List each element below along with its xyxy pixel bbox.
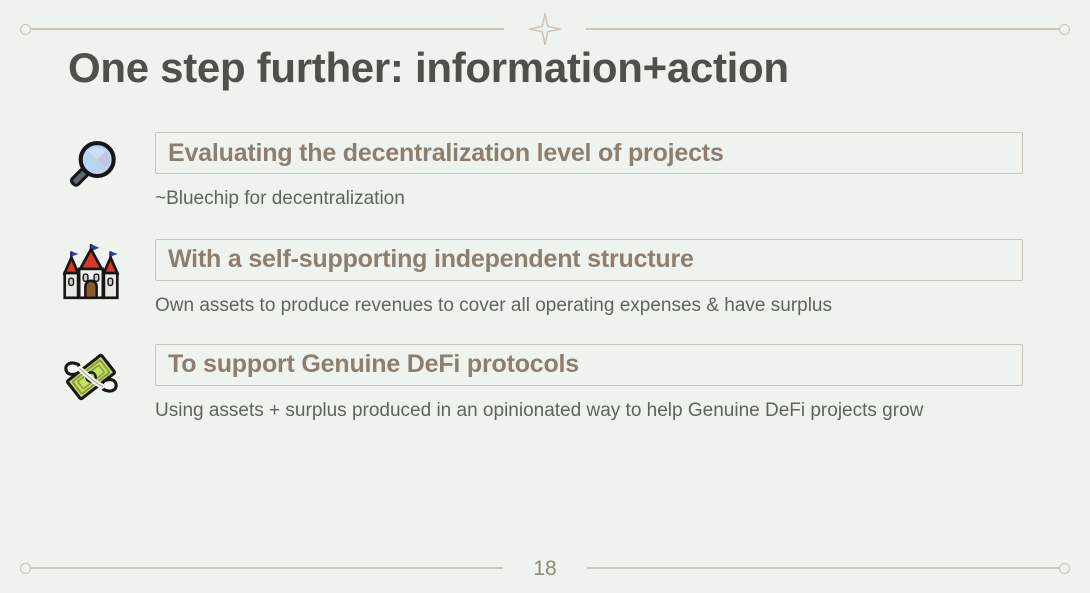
page-number: 18 xyxy=(533,558,556,579)
footer-line-left xyxy=(31,567,503,569)
block-body-text: Using assets + surplus produced in an op… xyxy=(155,398,995,425)
content-blocks: Evaluating the decentralization level of… xyxy=(0,132,1090,449)
headline-box: Evaluating the decentralization level of… xyxy=(155,132,1023,174)
footer-left-ring-icon xyxy=(20,563,31,574)
content-block: Evaluating the decentralization level of… xyxy=(0,132,1090,213)
divider-line-right xyxy=(586,28,1059,30)
headline-text: With a self-supporting independent struc… xyxy=(168,245,694,274)
divider-right-ring-icon xyxy=(1059,24,1070,35)
page-title: One step further: information+action xyxy=(68,44,789,92)
block-body-text: ~Bluechip for decentralization xyxy=(155,186,995,213)
content-block: To support Genuine DeFi protocols Using … xyxy=(0,344,1090,425)
headline-text: To support Genuine DeFi protocols xyxy=(168,350,579,379)
headline-text: Evaluating the decentralization level of… xyxy=(168,139,724,168)
footer-line-right xyxy=(587,567,1059,569)
footer-divider: 18 xyxy=(0,555,1090,581)
divider-line-left xyxy=(31,28,504,30)
sparkle-star-icon xyxy=(528,12,562,46)
divider-left-ring-icon xyxy=(20,24,31,35)
headline-box: With a self-supporting independent struc… xyxy=(155,239,1023,281)
top-divider xyxy=(0,12,1090,46)
magnifying-glass-icon xyxy=(58,132,124,198)
footer-right-ring-icon xyxy=(1059,563,1070,574)
content-block: With a self-supporting independent struc… xyxy=(0,239,1090,320)
headline-box: To support Genuine DeFi protocols xyxy=(155,344,1023,386)
slide: One step further: information+action Eva… xyxy=(0,0,1090,593)
money-with-wings-icon xyxy=(58,344,124,410)
castle-icon xyxy=(58,239,124,305)
block-body-text: Own assets to produce revenues to cover … xyxy=(155,293,995,320)
